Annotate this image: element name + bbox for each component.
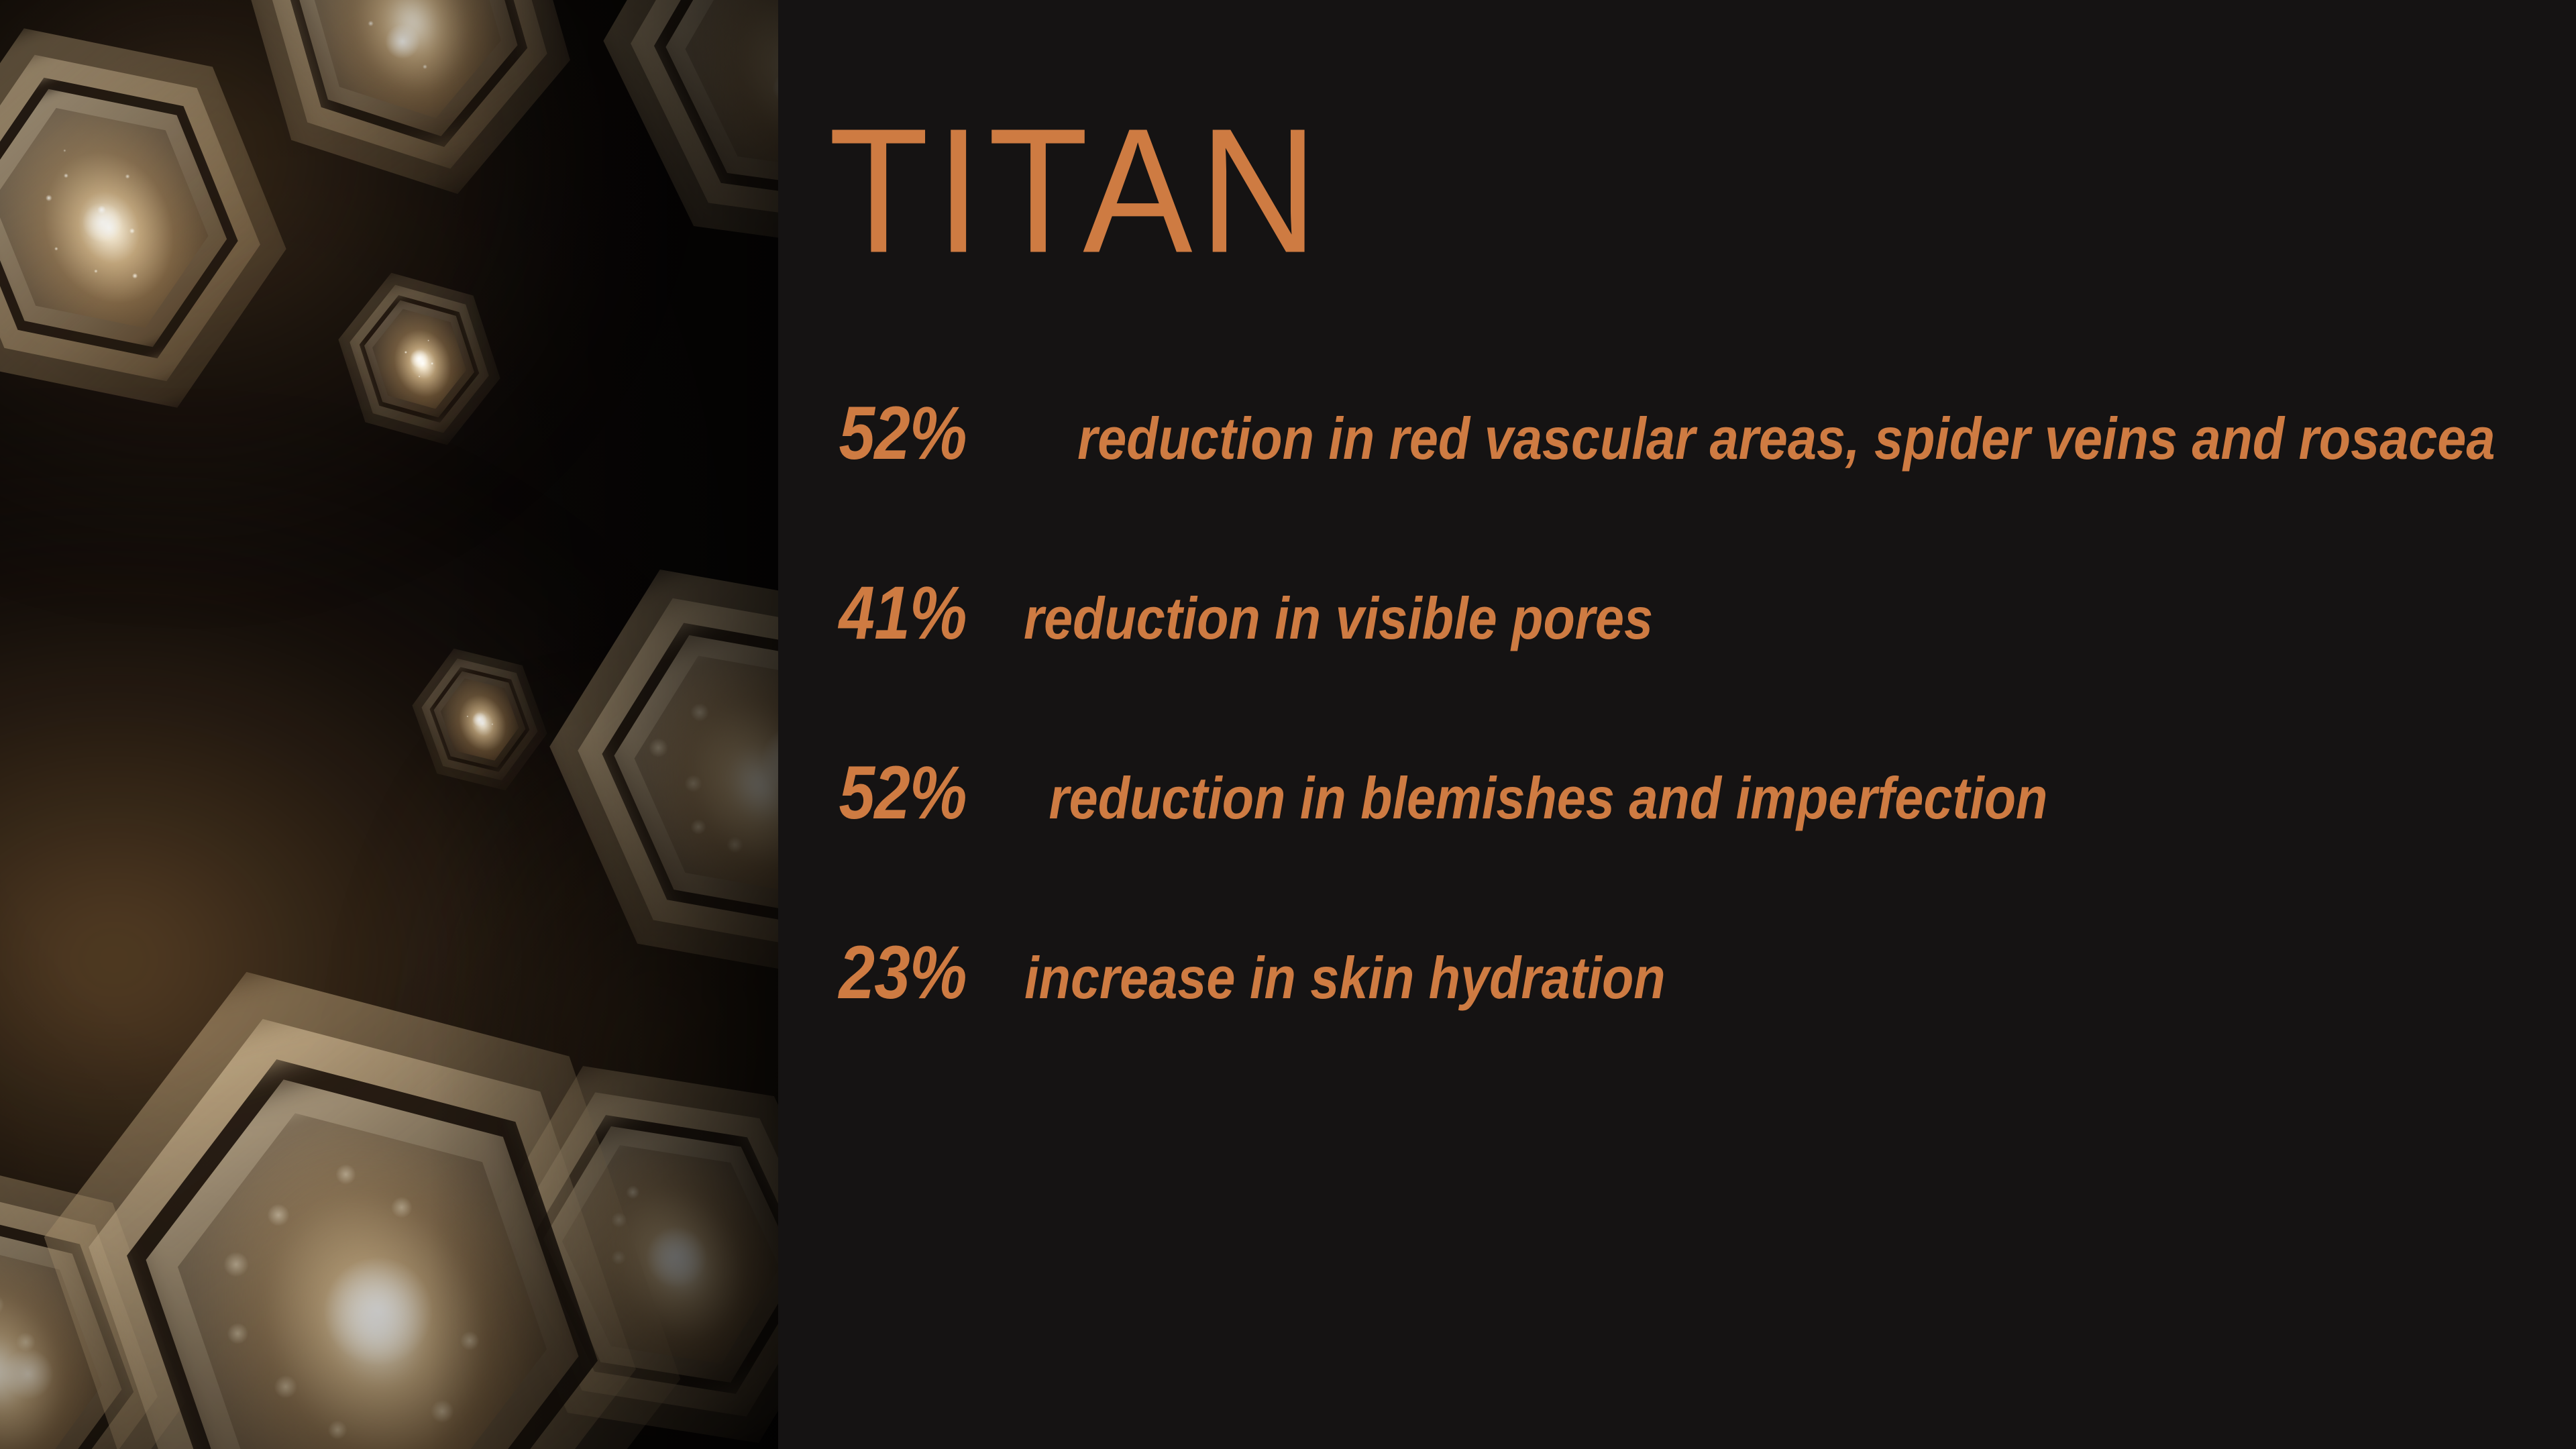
statistics-list: 52% reduction in red vascular areas, spi…	[828, 396, 2536, 1115]
decorative-image-panel	[0, 0, 778, 1449]
stat-value: 52%	[839, 396, 966, 471]
stat-item: 52% reduction in red vascular areas, spi…	[828, 396, 2536, 576]
stat-value: 41%	[839, 576, 966, 651]
stat-item: 52% reduction in blemishes and imperfect…	[828, 755, 2536, 935]
stat-value: 23%	[839, 935, 966, 1010]
stat-label: reduction in blemishes and imperfection	[1049, 769, 2048, 828]
presentation-slide: TITAN 52% reduction in red vascular area…	[0, 0, 2576, 1449]
stat-label: reduction in red vascular areas, spider …	[1077, 409, 2495, 468]
stat-item: 41% reduction in visible pores	[828, 576, 2536, 755]
stat-value: 52%	[839, 755, 966, 830]
stat-label: increase in skin hydration	[1024, 949, 1665, 1008]
page-title: TITAN	[828, 102, 1325, 280]
slide-content-panel: TITAN 52% reduction in red vascular area…	[778, 0, 2576, 1449]
stat-label: reduction in visible pores	[1024, 589, 1653, 648]
stat-item: 23% increase in skin hydration	[828, 935, 2536, 1115]
